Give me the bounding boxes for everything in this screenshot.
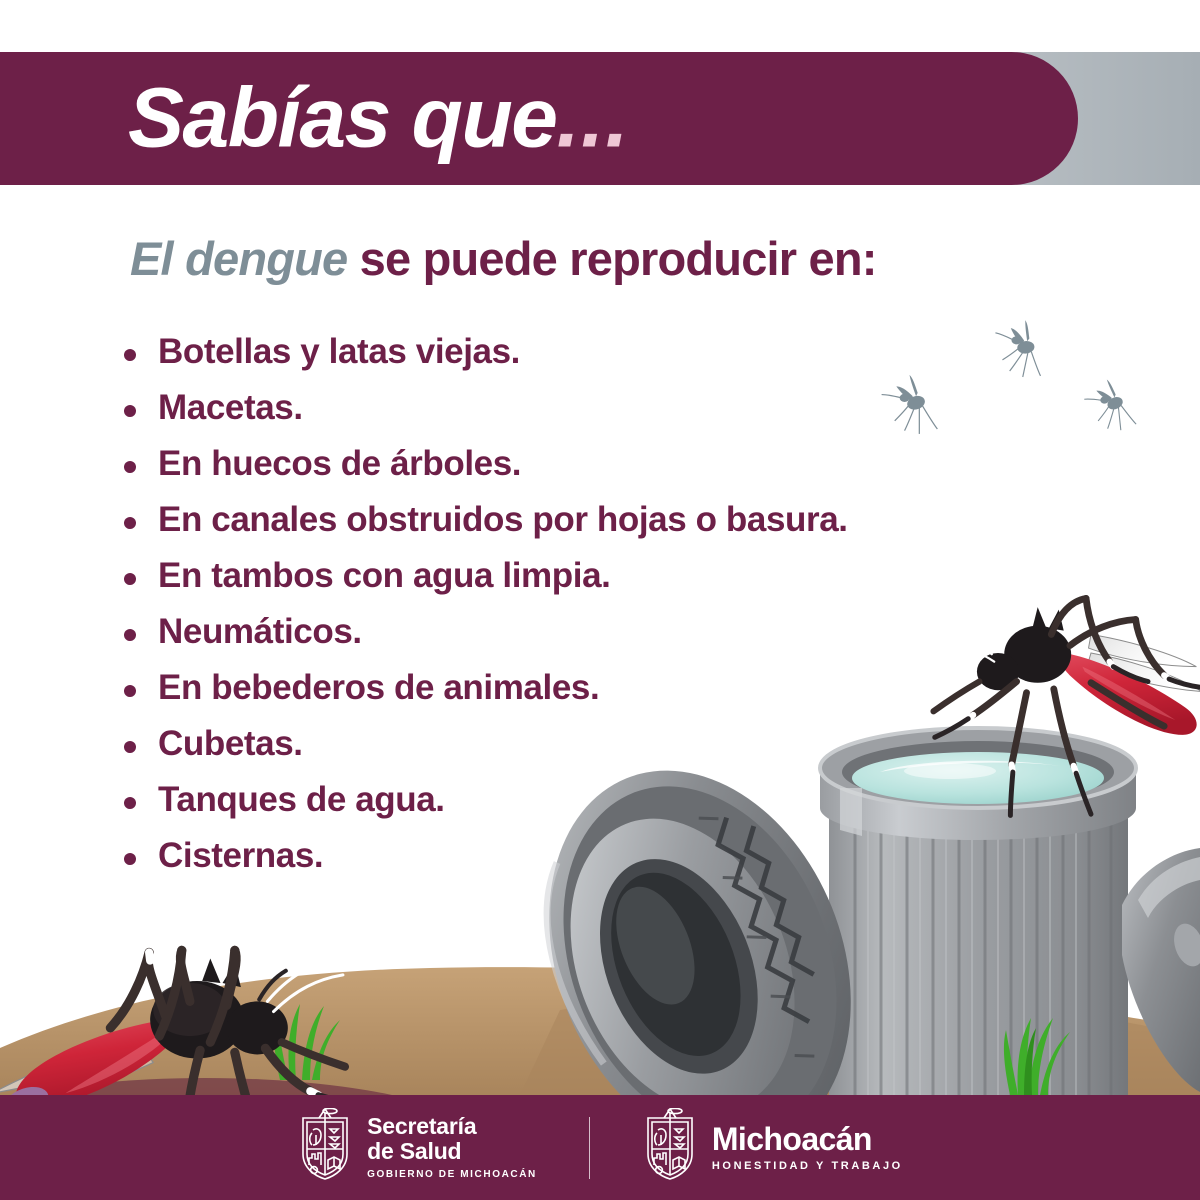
bullet-dot-icon	[124, 461, 136, 473]
bullet-dot-icon	[124, 797, 136, 809]
bullet-dot-icon	[124, 629, 136, 641]
list-item-label: En huecos de árboles.	[158, 444, 521, 484]
list-item-label: En canales obstruidos por hojas o basura…	[158, 500, 848, 540]
bullet-dot-icon	[124, 573, 136, 585]
michoacan-coat-of-arms-icon	[642, 1108, 698, 1187]
list-item-label: Neumáticos.	[158, 612, 362, 652]
trash-can-lid-illustration	[1122, 848, 1200, 1092]
logo-state-tagline: HONESTIDAD Y TRABAJO	[712, 1161, 903, 1173]
list-item: Macetas.	[124, 388, 984, 444]
subtitle: El dengue se puede reproducir en:	[130, 232, 877, 286]
list-item-label: Tanques de agua.	[158, 780, 445, 820]
michoacan-coat-of-arms-icon	[297, 1108, 353, 1187]
mosquito-silhouette-icon	[1082, 377, 1136, 434]
list-item: Tanques de agua.	[124, 780, 984, 836]
list-item: Cisternas.	[124, 836, 984, 892]
dirt-ground-illustration	[0, 967, 1200, 1095]
subtitle-emphasis: El dengue	[130, 232, 347, 285]
bullet-dot-icon	[124, 405, 136, 417]
list-item: En canales obstruidos por hojas o basura…	[124, 500, 984, 556]
bullet-dot-icon	[124, 685, 136, 697]
logo-secretaria-de-salud: Secretaría de Salud GOBIERNO DE MICHOACÁ…	[297, 1108, 537, 1187]
list-item: Neumáticos.	[124, 612, 984, 668]
page-title-ellipsis: ...	[557, 70, 630, 164]
logo-secretaria-text: Secretaría de Salud GOBIERNO DE MICHOACÁ…	[367, 1114, 537, 1181]
page-title: Sabías que...	[128, 75, 630, 159]
bullet-dot-icon	[124, 517, 136, 529]
breeding-sites-list: Botellas y latas viejas. Macetas. En hue…	[124, 332, 984, 892]
list-item: Cubetas.	[124, 724, 984, 780]
list-item: En bebederos de animales.	[124, 668, 984, 724]
bullet-dot-icon	[124, 349, 136, 361]
logo-state-name: Michoacán	[712, 1122, 903, 1157]
header: Sabías que...	[0, 52, 1200, 185]
list-item: En tambos con agua limpia.	[124, 556, 984, 612]
logo-tagline: GOBIERNO DE MICHOACÁN	[367, 1170, 537, 1181]
footer: Secretaría de Salud GOBIERNO DE MICHOACÁ…	[0, 1095, 1200, 1200]
bullet-dot-icon	[124, 853, 136, 865]
list-item-label: Cubetas.	[158, 724, 303, 764]
infographic-poster: Sabías que... El dengue se puede reprodu…	[0, 0, 1200, 1200]
bullet-dot-icon	[124, 741, 136, 753]
grass-tuft-illustration	[274, 1004, 1070, 1095]
mosquito-silhouette-icon	[988, 315, 1052, 381]
list-item: Botellas y latas viejas.	[124, 332, 984, 388]
page-title-text: Sabías que	[128, 70, 557, 164]
subtitle-rest: se puede reproducir en:	[347, 232, 876, 285]
logo-michoacan-text: Michoacán HONESTIDAD Y TRABAJO	[712, 1122, 903, 1172]
footer-divider	[589, 1117, 590, 1179]
list-item-label: Botellas y latas viejas.	[158, 332, 520, 372]
list-item-label: En bebederos de animales.	[158, 668, 599, 708]
list-item-label: Macetas.	[158, 388, 303, 428]
logo-line-2: de Salud	[367, 1139, 537, 1164]
list-item-label: Cisternas.	[158, 836, 323, 876]
logo-line-1: Secretaría	[367, 1114, 537, 1139]
list-item: En huecos de árboles.	[124, 444, 984, 500]
list-item-label: En tambos con agua limpia.	[158, 556, 610, 596]
logo-michoacan: Michoacán HONESTIDAD Y TRABAJO	[642, 1108, 903, 1187]
